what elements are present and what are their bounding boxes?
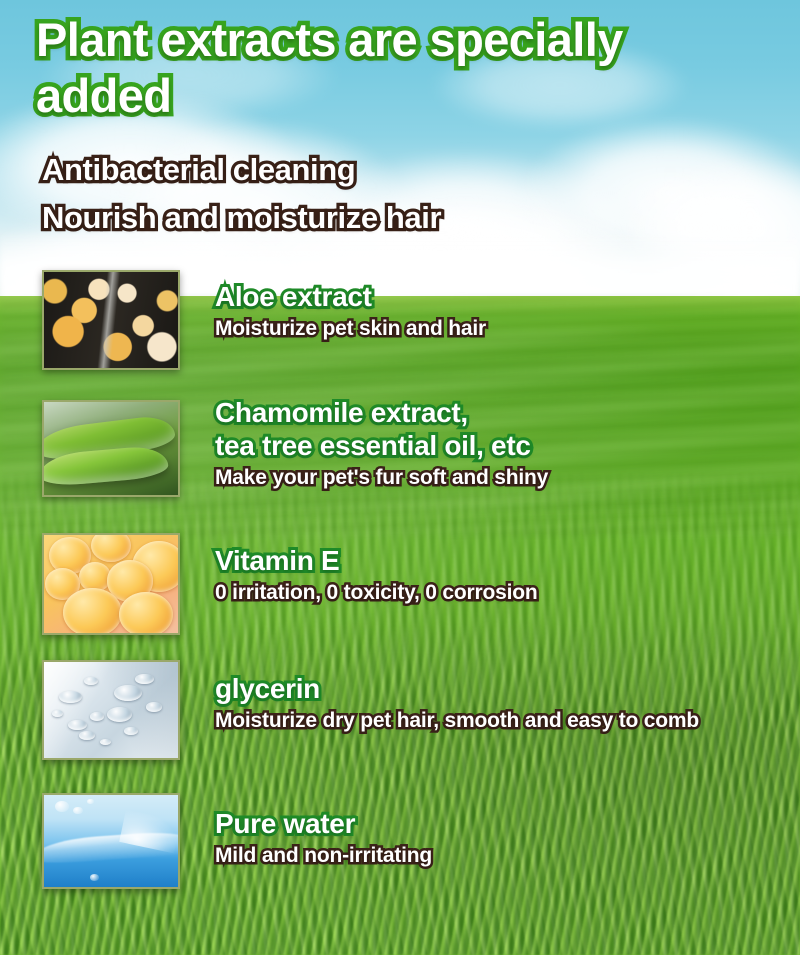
- ingredient-title: Vitamin E: [215, 544, 795, 577]
- ingredient-title: Pure water: [215, 807, 795, 840]
- page-title: Plant extracts are specially added: [36, 12, 736, 124]
- ingredient-text-column: Chamomile extract, tea tree essential oi…: [215, 396, 795, 491]
- ingredient-description: Mild and non-irritating: [215, 843, 795, 869]
- ingredient-title: glycerin: [215, 672, 795, 705]
- water-droplets-photo-icon: [44, 662, 178, 758]
- aloe-vera-photo-icon: [44, 402, 178, 495]
- ingredient-text-column: Aloe extract Moisturize pet skin and hai…: [215, 280, 795, 342]
- ingredient-description: Moisturize pet skin and hair: [215, 316, 795, 342]
- ingredient-title-line1: Chamomile extract,: [215, 396, 795, 429]
- oil-bubbles-photo-icon: [44, 535, 178, 633]
- product-infographic-poster: Plant extracts are specially added Antib…: [0, 0, 800, 955]
- poster-content: Plant extracts are specially added Antib…: [0, 0, 800, 955]
- ingredient-text-column: Vitamin E 0 irritation, 0 toxicity, 0 co…: [215, 544, 795, 606]
- ingredient-text-column: glycerin Moisturize dry pet hair, smooth…: [215, 672, 795, 734]
- ingredient-description: 0 irritation, 0 toxicity, 0 corrosion: [215, 580, 795, 606]
- ingredient-title-line2: tea tree essential oil, etc: [215, 429, 795, 462]
- aloe-vera-thumbnail: [42, 400, 180, 497]
- blossom-photo-icon: [44, 272, 178, 368]
- ingredient-text-column: Pure water Mild and non-irritating: [215, 807, 795, 869]
- water-splash-photo-icon: [44, 795, 178, 887]
- ingredient-description: Moisturize dry pet hair, smooth and easy…: [215, 708, 795, 734]
- ingredient-title: Aloe extract: [215, 280, 795, 313]
- blossom-thumbnail: [42, 270, 180, 370]
- water-droplets-thumbnail: [42, 660, 180, 760]
- oil-bubbles-thumbnail: [42, 533, 180, 635]
- subheading-nourish: Nourish and moisturize hair: [42, 200, 762, 236]
- subheading-antibacterial: Antibacterial cleaning: [42, 152, 762, 188]
- ingredient-description: Make your pet's fur soft and shiny: [215, 465, 795, 491]
- water-splash-thumbnail: [42, 793, 180, 889]
